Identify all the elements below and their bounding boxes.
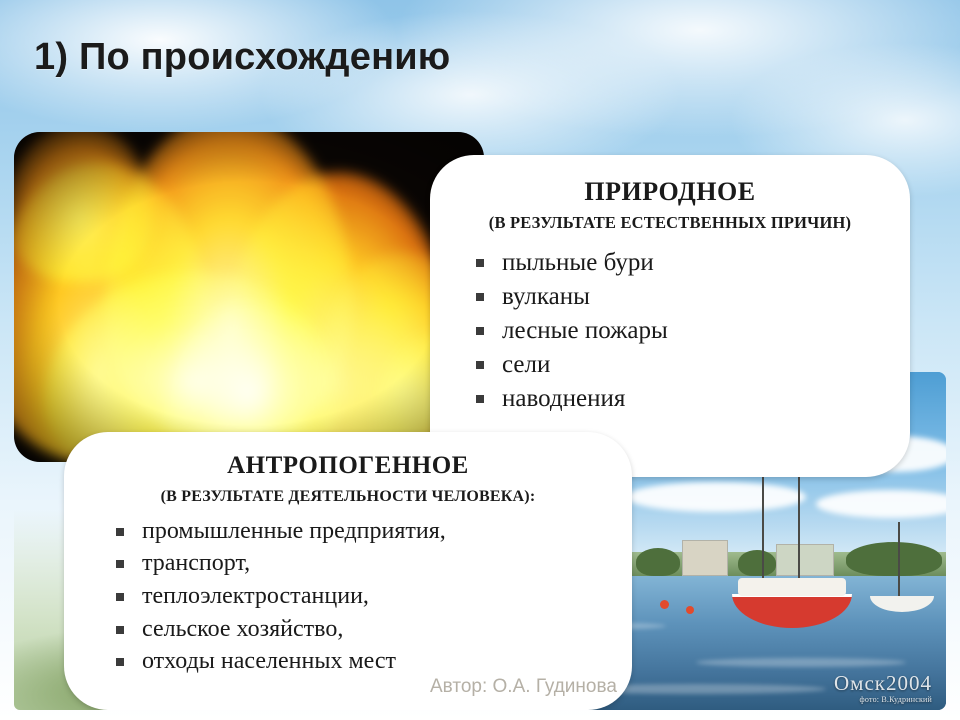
natural-callout-title: ПРИРОДНОЕ (456, 177, 884, 207)
natural-causes-list: пыльные бури вулканы лесные пожары сели … (456, 246, 884, 416)
list-item: лесные пожары (474, 314, 884, 348)
list-item: наводнения (474, 382, 884, 416)
list-item: сельское хозяйство, (114, 613, 606, 646)
page-title: 1) По происхождению (34, 36, 450, 79)
natural-causes-callout: ПРИРОДНОЕ (В РЕЗУЛЬТАТЕ ЕСТЕСТВЕННЫХ ПРИ… (430, 155, 910, 477)
natural-callout-subtitle: (В РЕЗУЛЬТАТЕ ЕСТЕСТВЕННЫХ ПРИЧИН) (456, 213, 884, 234)
anthropogenic-callout-title: АНТРОПОГЕННОЕ (90, 452, 606, 481)
anthropogenic-callout-subtitle: (В РЕЗУЛЬТАТЕ ДЕЯТЕЛЬНОСТИ ЧЕЛОВЕКА): (90, 487, 606, 507)
author-credit: Автор: О.А. Гудинова (430, 676, 617, 698)
list-item: транспорт, (114, 547, 606, 580)
list-item: промышленные предприятия, (114, 515, 606, 548)
photo-collage: ПРИРОДНОЕ (В РЕЗУЛЬТАТЕ ЕСТЕСТВЕННЫХ ПРИ… (14, 132, 946, 710)
list-item: отходы населенных мест (114, 645, 606, 678)
slide-canvas: 1) По происхождению (0, 0, 960, 720)
anthropogenic-causes-list: промышленные предприятия, транспорт, теп… (90, 515, 606, 678)
fire-photo (14, 132, 484, 462)
anthropogenic-causes-callout: АНТРОПОГЕННОЕ (В РЕЗУЛЬТАТЕ ДЕЯТЕЛЬНОСТИ… (64, 432, 632, 710)
list-item: вулканы (474, 280, 884, 314)
list-item: пыльные бури (474, 246, 884, 280)
list-item: сели (474, 348, 884, 382)
list-item: теплоэлектростанции, (114, 580, 606, 613)
